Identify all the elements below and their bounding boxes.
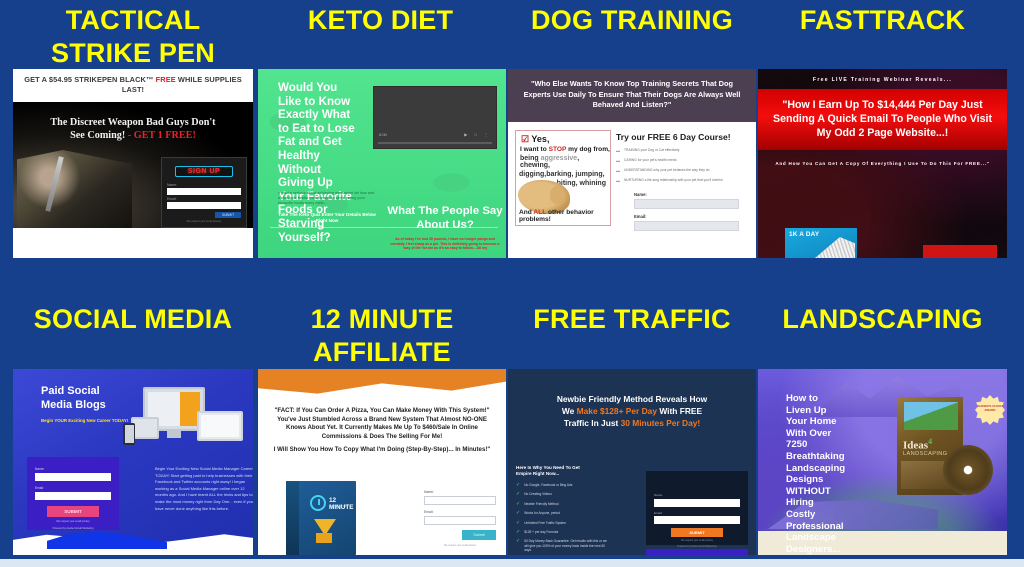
card5-email-input[interactable] xyxy=(35,492,111,500)
card-social-media[interactable]: Paid Social Media Blogs Begin YOUR Excit… xyxy=(13,369,253,555)
card6-box-sub: AFFILIATE xyxy=(329,505,347,508)
chip-icon xyxy=(316,533,332,543)
card-title-free-traffic: FREE TRAFFIC xyxy=(508,303,756,336)
card7-benefits-list: ✓ No Google, Facebook or Bing Ads ✓ No C… xyxy=(516,483,612,555)
card2-subcopy: If you're serious about achieving perman… xyxy=(278,191,376,206)
card1-headline-emphasis: FREE xyxy=(156,75,176,84)
card4-post-headline: And How You Can Get A Copy Of Everything… xyxy=(758,150,1007,166)
card7-submit-button[interactable]: SUBMIT xyxy=(671,528,723,537)
check-icon: ✓ xyxy=(516,539,520,544)
card8-headline: How to Liven Up Your Home With Over 7250… xyxy=(758,369,840,555)
card5-fine-print-1: We respect your email privacy xyxy=(35,517,111,524)
card5-name-label: Name: xyxy=(35,467,111,471)
dash-icon: ▬ xyxy=(616,168,620,174)
clock-icon xyxy=(310,495,326,511)
card3-email-label: Email: xyxy=(634,214,739,219)
card7-why-heading: Here Is Why You Need To Get Empire Right… xyxy=(516,465,596,478)
card6-email-input[interactable] xyxy=(424,516,496,525)
card1-fine-print: We respect your email privacy xyxy=(167,218,241,223)
card3-headline: "Who Else Wants To Know Top Training Sec… xyxy=(508,69,756,122)
card6-copy-1: "FACT: If You Can Order A Pizza, You Can… xyxy=(274,407,489,414)
checkbox-icon: ☑ xyxy=(521,134,529,144)
cash-fan-icon xyxy=(815,237,855,258)
card7-bullet-label: No Creating Videos xyxy=(524,492,552,496)
card7-bullet: ✓ $128 + per day Formula xyxy=(516,530,612,535)
card5-name-input[interactable] xyxy=(35,473,111,481)
card7-headline-2c: With FREE xyxy=(657,406,702,416)
card6-body-copy: "FACT: If You Can Order A Pizza, You Can… xyxy=(268,407,496,455)
card2-video-progress[interactable] xyxy=(378,142,492,144)
card7-bullet-label: No Google, Facebook or Bing Ads xyxy=(524,483,572,487)
bottom-strip-segment-1 xyxy=(0,559,190,567)
phone-icon xyxy=(123,423,135,445)
card5-fine-print-2: Powered by Aweber Email Marketing xyxy=(35,524,111,531)
card5-submit-button[interactable]: SUBMIT xyxy=(47,506,99,517)
card6-fine-print: We respect your email privacy xyxy=(424,540,496,547)
card6-orange-banner xyxy=(258,369,506,399)
card6-copy-3: I Will Show You How To Copy What I'm Doi… xyxy=(274,446,491,453)
card2-video-time: 0:00 xyxy=(379,130,387,139)
card2-video-player[interactable]: 0:00 ▶ □ ⋮ xyxy=(373,86,497,149)
card3-course-heading: Try our FREE 6 Day Course! xyxy=(616,130,748,148)
laptop-icon xyxy=(197,411,243,441)
card-free-traffic[interactable]: Newbie Friendly Method Reveals How We Ma… xyxy=(508,369,756,555)
box-spine xyxy=(286,481,299,555)
card-tactical-strike-pen[interactable]: GET A $54.95 STRIKEPEN BLACK™ FREE WHILE… xyxy=(13,69,253,258)
check-icon: ✓ xyxy=(516,492,520,497)
card1-hero-text: The Discreet Weapon Bad Guys Don't See C… xyxy=(13,102,253,142)
card-title-fasttrack: FASTTRACK xyxy=(758,4,1007,37)
card4-cta-button[interactable] xyxy=(923,245,997,258)
card-title-tactical-strike-pen: TACTICAL STRIKE PEN xyxy=(13,4,253,70)
card7-bullet: ✓ 60 Day Money Back Guarantee. Get resul… xyxy=(516,539,612,552)
card1-hero: The Discreet Weapon Bad Guys Don't See C… xyxy=(13,102,253,228)
card6-name-label: Name: xyxy=(424,490,496,494)
card-12-minute-affiliate[interactable]: "FACT: If You Can Order A Pizza, You Can… xyxy=(258,369,506,555)
card3-bullet-label: UNDERSTANDING why your pet behaves the w… xyxy=(624,168,710,173)
card3-poster-l6a: And xyxy=(519,209,533,216)
card3-poster-l2c: my dog from, xyxy=(566,146,610,153)
monitor-stand-icon xyxy=(167,431,181,438)
card3-poster-l2a: I want to xyxy=(520,146,549,153)
card8-product-name-text: Ideas xyxy=(903,440,928,452)
gallery-page: TACTICAL STRIKE PEN KETO DIET DOG TRAINI… xyxy=(0,0,1024,567)
dash-icon: ▬ xyxy=(616,178,620,184)
card3-poster-yes: Yes, xyxy=(531,134,549,144)
card3-poster-l4b: barking, jumping, xyxy=(546,171,604,178)
card3-bullet: ▬ TRAINING your Dog or Cat effectively xyxy=(616,148,748,154)
card4-headline: "How I Earn Up To $14,444 Per Day Just S… xyxy=(758,89,1007,150)
card5-headline: Paid Social Media Blogs xyxy=(13,369,123,412)
check-icon: ✓ xyxy=(516,511,520,516)
card7-email-label: Email: xyxy=(654,511,740,515)
card1-headline-pre: GET A $54.95 STRIKEPEN BLACK™ xyxy=(24,75,155,84)
card6-submit-button[interactable]: Submit xyxy=(462,530,496,540)
card-title-dog-training: DOG TRAINING xyxy=(508,4,756,37)
product-box-image: 12 MINUTE AFFILIATE xyxy=(286,481,356,555)
card6-email-label: Email: xyxy=(424,510,496,514)
card3-course-block: Try our FREE 6 Day Course! ▬ TRAINING yo… xyxy=(616,130,756,184)
bottom-strip-segment-2 xyxy=(190,559,570,567)
card7-bullet-label: Unlimited Free Traffic System xyxy=(524,521,566,525)
card3-poster-line3: being aggressive, chewing, xyxy=(516,153,610,169)
card7-bullet: ✓ No Google, Facebook or Bing Ads xyxy=(516,483,612,488)
card-dog-training[interactable]: "Who Else Wants To Know Top Training Sec… xyxy=(508,69,756,258)
card3-bullet-label: NURTURING a life-long relationship with … xyxy=(624,178,723,183)
card6-box-title: 12 MINUTE xyxy=(329,497,356,511)
card-landscaping[interactable]: How to Liven Up Your Home With Over 7250… xyxy=(758,369,1007,555)
card4-pre-headline: Free LIVE Training Webinar Reveals... xyxy=(758,69,1007,89)
check-icon: ✓ xyxy=(516,502,520,507)
card3-poster-line1: ☑ Yes, xyxy=(516,131,610,145)
card1-hero-accent: - GET 1 FREE! xyxy=(128,130,196,141)
card2-testimonials-heading: What The People Say About Us? xyxy=(386,204,504,232)
card7-bullet: ✓ No Creating Videos xyxy=(516,492,612,497)
card2-cta-text: Take The Keto Quiz Enter Your Details Be… xyxy=(278,212,376,224)
card4-thumb-logo: 1K A DAY xyxy=(785,228,857,238)
card3-bullet-label: TRAINING your Dog or Cat effectively xyxy=(624,148,679,153)
card4-video-thumbnail[interactable]: 1K A DAY xyxy=(785,228,857,258)
card3-name-label: Name: xyxy=(634,192,739,197)
card7-bullet-label: Works for Anyone, period xyxy=(524,511,560,515)
card2-video-controls[interactable]: 0:00 ▶ □ ⋮ xyxy=(374,130,496,139)
card3-body: ☑ Yes, I want to STOP my dog from, being… xyxy=(508,122,756,252)
card-fasttrack[interactable]: Free LIVE Training Webinar Reveals... "H… xyxy=(758,69,1007,258)
card7-headline-2b: Make $128+ Per Day xyxy=(577,406,657,416)
card7-bullet: ✓ Works for Anyone, period xyxy=(516,511,612,516)
card6-optin-form[interactable]: Name: Email: Submit We respect your emai… xyxy=(424,490,496,547)
card7-headline-2a: We xyxy=(562,406,577,416)
bottom-strip-segment-3 xyxy=(570,559,1024,567)
card7-name-input[interactable] xyxy=(654,499,740,507)
card7-bullet: ✓ Newbie Friendly Method xyxy=(516,502,612,507)
card-title-landscaping: LANDSCAPING xyxy=(758,303,1007,336)
card1-headline: GET A $54.95 STRIKEPEN BLACK™ FREE WHILE… xyxy=(13,69,253,102)
device-mockup-image xyxy=(123,387,243,449)
card3-email-input[interactable] xyxy=(634,221,739,231)
card5-optin-form[interactable]: Name: Email: SUBMIT We respect your emai… xyxy=(27,457,119,530)
check-icon: ✓ xyxy=(516,521,520,526)
card8-product-sup: 4 xyxy=(928,437,932,446)
card-title-keto-diet: KETO DIET xyxy=(258,4,503,37)
card6-name-input[interactable] xyxy=(424,496,496,505)
card3-optin-form[interactable]: Name: Email: xyxy=(634,192,739,231)
card7-optin-form[interactable]: Name: Email: SUBMIT We respect your emai… xyxy=(646,471,748,545)
dash-icon: ▬ xyxy=(616,158,620,164)
card3-name-input[interactable] xyxy=(634,199,739,209)
card3-poster-l3b: aggressive xyxy=(541,155,578,162)
card2-video-icons[interactable]: ▶ □ ⋮ xyxy=(464,130,491,139)
card7-headline-1: Newbie Friendly Method Reveals How xyxy=(557,394,707,404)
award-seal-icon: READER'S CHOICE AWARD xyxy=(975,395,1005,425)
card3-poster-line2: I want to STOP my dog from, xyxy=(516,145,610,153)
dvd-disc-icon xyxy=(943,445,993,495)
card7-bottom-bar xyxy=(646,549,748,555)
card3-poster-l4a: digging, xyxy=(519,171,546,178)
check-icon: ✓ xyxy=(516,530,520,535)
tablet-icon xyxy=(131,417,159,439)
card1-hero-line1: The Discreet Weapon Bad Guys Don't xyxy=(50,117,215,128)
card7-headline-3b: 30 Minutes Per Day! xyxy=(621,418,701,428)
card6-copy-2: You've Just Stumbled Across a Brand New … xyxy=(277,416,487,440)
card3-poster-line6: And ALL other behavior problems! xyxy=(516,209,610,225)
card5-email-label: Email: xyxy=(35,486,111,490)
package-photo xyxy=(904,402,958,430)
card7-bullet-label: 60 Day Money Back Guarantee. Get results… xyxy=(524,539,612,552)
card3-poster-l2b: STOP xyxy=(549,146,567,153)
card7-bullet-label: Newbie Friendly Method xyxy=(524,502,558,506)
funnel-icon xyxy=(314,519,336,533)
card1-signup-badge: SIGN UP xyxy=(175,166,233,177)
card7-bullet-label: $128 + per day Formula xyxy=(524,530,558,534)
card1-submit-button[interactable]: SUBMIT xyxy=(215,212,241,218)
tactical-pen-photo xyxy=(17,150,132,228)
card3-poster-image: ☑ Yes, I want to STOP my dog from, being… xyxy=(515,130,611,226)
dash-icon: ▬ xyxy=(616,148,620,154)
card3-poster-l3a: being xyxy=(520,155,541,162)
card7-email-input[interactable] xyxy=(654,516,740,524)
card3-poster-l6b: ALL xyxy=(533,209,546,216)
card1-name-input[interactable] xyxy=(167,188,241,195)
check-icon: ✓ xyxy=(516,483,520,488)
card-title-12-minute-affiliate: 12 MINUTE AFFILIATE xyxy=(258,303,506,369)
card1-hero-line2: See Coming! xyxy=(70,130,125,141)
card3-bullet-label: CARING for your pet's health needs xyxy=(624,158,677,163)
card3-bullet: ▬ CARING for your pet's health needs xyxy=(616,158,748,164)
card1-name-label: Name: xyxy=(167,183,241,187)
card8-product-sub: LANDSCAPING xyxy=(903,451,948,457)
card3-bullet: ▬ UNDERSTANDING why your pet behaves the… xyxy=(616,168,748,174)
card-keto-diet[interactable]: Would You Like to Know Exactly What to E… xyxy=(258,69,506,258)
card1-optin-form[interactable]: SIGN UP Name: Email: SUBMIT We respect y… xyxy=(161,157,247,228)
card7-headline: Newbie Friendly Method Reveals How We Ma… xyxy=(508,369,756,429)
card3-bullet: ▬ NURTURING a life-long relationship wit… xyxy=(616,178,748,184)
card7-name-label: Name: xyxy=(654,493,740,497)
card5-body-copy: Begin Your Exciting New Social Media Man… xyxy=(155,466,253,512)
page-bottom-strip xyxy=(0,559,1024,567)
card8-product-name: Ideas4 xyxy=(903,437,932,452)
card-title-social-media: SOCIAL MEDIA xyxy=(13,303,253,336)
card1-email-label: Email: xyxy=(167,197,241,201)
card3-poster-line4: digging,barking, jumping, xyxy=(516,169,610,178)
card1-email-input[interactable] xyxy=(167,202,241,209)
card2-testimonial-text: As of today I've lost 35 pounds, I have … xyxy=(388,237,502,251)
card7-bullet: ✓ Unlimited Free Traffic System xyxy=(516,521,612,526)
card5-wave-accent xyxy=(47,531,167,549)
card7-headline-3a: Traffic In Just xyxy=(564,418,621,428)
